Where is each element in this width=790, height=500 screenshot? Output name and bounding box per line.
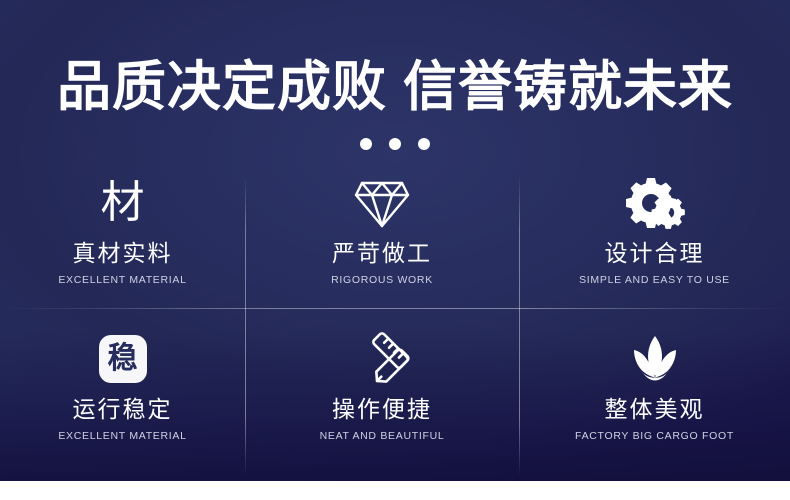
gears-icon [623, 174, 687, 232]
page-title: 品质决定成败 信誉铸就未来 [0, 56, 790, 118]
diamond-icon [352, 174, 412, 232]
pencil-ruler-icon [353, 330, 411, 388]
feature-subtitle: RIGOROUS WORK [331, 274, 433, 287]
feature-subtitle: EXCELLENT MATERIAL [58, 430, 186, 443]
feature-title: 运行稳定 [73, 397, 173, 423]
feature-subtitle: NEAT AND BEAUTIFUL [320, 430, 445, 443]
feature-subtitle: FACTORY BIG CARGO FOOT [575, 430, 734, 443]
feature-subtitle: EXCELLENT MATERIAL [58, 274, 186, 287]
feature-grid: 材 真材实料 EXCELLENT MATERIAL 严苛做工 R [0, 168, 790, 478]
feature-cell-workmanship: 严苛做工 RIGOROUS WORK [245, 168, 519, 308]
feature-cell-stability: 稳 运行稳定 EXCELLENT MATERIAL [0, 308, 245, 478]
cai-character-icon: 材 [101, 174, 145, 232]
separator-dot-3 [418, 138, 430, 150]
wen-character-badge: 稳 [99, 335, 147, 383]
promo-banner: 品质决定成败 信誉铸就未来 材 真材实料 EXCELLENT MATERIAL [0, 0, 790, 481]
cai-character-glyph: 材 [101, 178, 145, 228]
feature-title: 真材实料 [73, 241, 173, 267]
separator-dot-1 [360, 138, 372, 150]
feature-title: 整体美观 [605, 397, 705, 423]
feature-title: 设计合理 [605, 241, 705, 267]
feature-title: 操作便捷 [332, 397, 432, 423]
feature-cell-appearance: 整体美观 FACTORY BIG CARGO FOOT [519, 308, 790, 478]
feature-cell-design: 设计合理 SIMPLE AND EASY TO USE [519, 168, 790, 308]
lotus-flower-icon [624, 330, 686, 388]
dot-separator [0, 138, 790, 150]
feature-subtitle: SIMPLE AND EASY TO USE [579, 274, 730, 287]
feature-cell-operation: 操作便捷 NEAT AND BEAUTIFUL [245, 308, 519, 478]
wen-character-badge-icon: 稳 [99, 330, 147, 388]
feature-cell-material: 材 真材实料 EXCELLENT MATERIAL [0, 168, 245, 308]
feature-title: 严苛做工 [332, 241, 432, 267]
separator-dot-2 [389, 138, 401, 150]
